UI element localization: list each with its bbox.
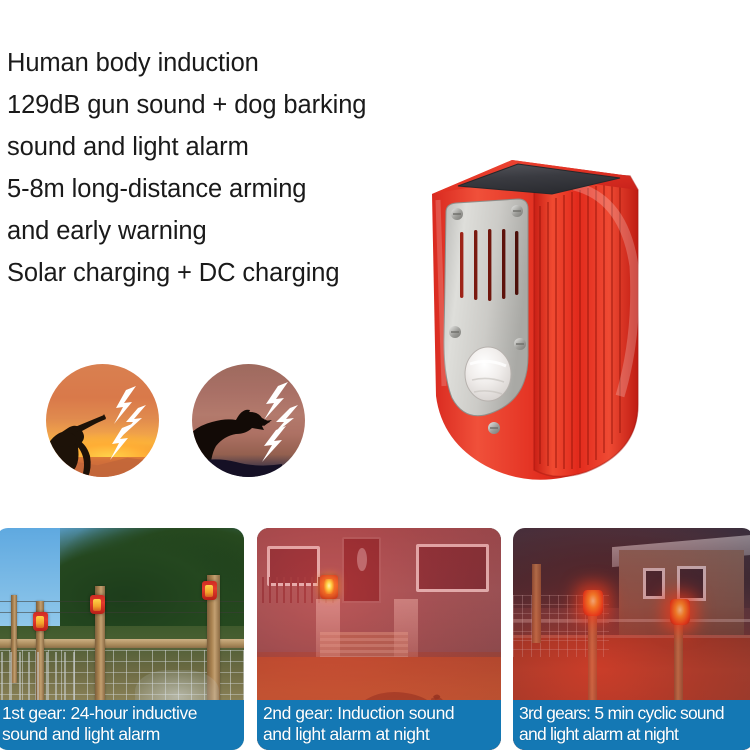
usage-scenario-panels: 1st gear: 24-hour inductive sound and li…	[0, 528, 750, 750]
mounted-alarm-device	[320, 575, 338, 599]
mounted-alarm-device	[90, 595, 105, 614]
hunter-with-rifle-silhouette	[46, 364, 159, 477]
scenario-1-caption: 1st gear: 24-hour inductive sound and li…	[0, 700, 244, 750]
barking-dog-silhouette	[192, 364, 305, 477]
feature-line-2: 129dB gun sound + dog barking	[7, 84, 477, 126]
feature-line-4: 5-8m long-distance arming	[7, 168, 477, 210]
caption-line-2: sound and light alarm	[2, 724, 239, 745]
feature-text-block: Human body induction 129dB gun sound + d…	[7, 42, 477, 294]
feature-line-6: Solar charging + DC charging	[7, 252, 477, 294]
feature-line-5: and early warning	[7, 210, 477, 252]
caption-line-1: 1st gear: 24-hour inductive	[2, 703, 239, 724]
product-image-canvas: Human body induction 129dB gun sound + d…	[0, 0, 750, 750]
feature-line-1: Human body induction	[7, 42, 477, 84]
sound-type-icons	[46, 362, 316, 482]
scenario-panel-1: 1st gear: 24-hour inductive sound and li…	[0, 528, 244, 750]
scenario-2-caption: 2nd gear: Induction sound and light alar…	[257, 700, 501, 750]
dog-barking-icon	[192, 364, 305, 477]
mounted-alarm-device	[202, 581, 217, 600]
scenario-panel-2: 2nd gear: Induction sound and light alar…	[257, 528, 501, 750]
caption-line-2: and light alarm at night	[519, 724, 749, 745]
sound-wave-bolts	[110, 386, 146, 460]
caption-line-2: and light alarm at night	[263, 724, 496, 745]
scenario-3-caption: 3rd gears: 5 min cyclic sound and light …	[513, 700, 750, 750]
scenario-panel-3: 3rd gears: 5 min cyclic sound and light …	[513, 528, 750, 750]
metal-gate	[1, 652, 75, 701]
gun-sound-icon	[46, 364, 159, 477]
feature-line-3: sound and light alarm	[7, 126, 477, 168]
mounted-alarm-device	[33, 612, 48, 631]
caption-line-1: 2nd gear: Induction sound	[263, 703, 496, 724]
caption-line-1: 3rd gears: 5 min cyclic sound	[519, 703, 749, 724]
